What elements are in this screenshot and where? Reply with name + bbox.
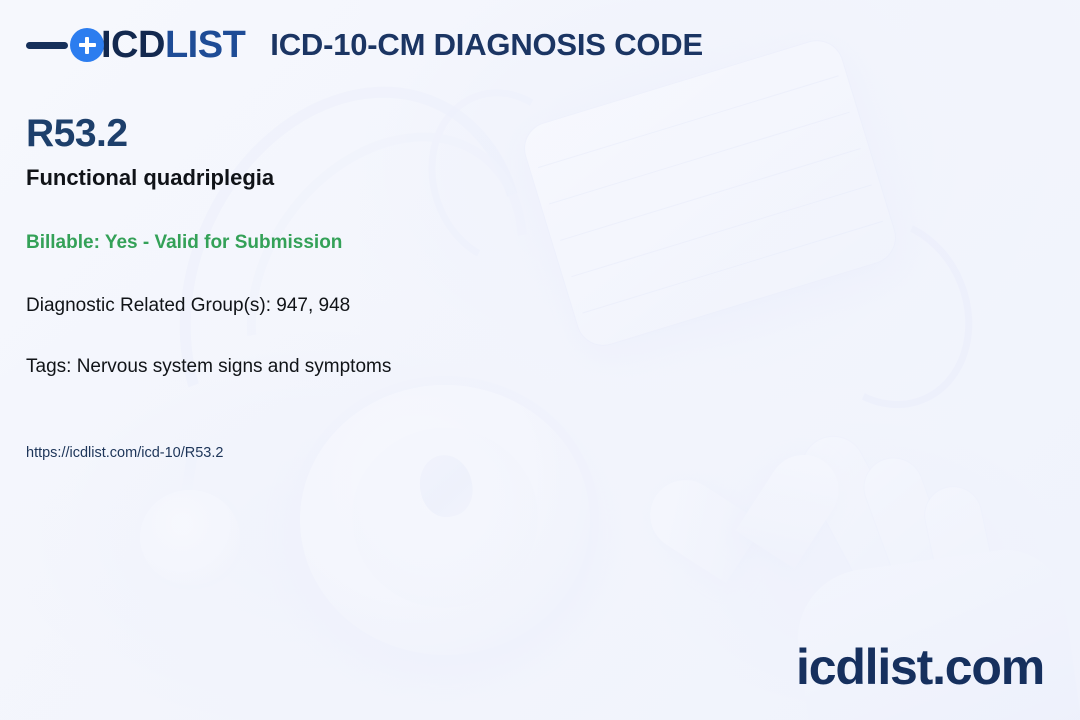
gloved-finger-icon [856,450,969,631]
gloved-finger-icon [791,426,930,614]
stethoscope-earpiece-icon [140,490,240,585]
surgical-mask-icon [519,35,902,351]
dash-icon [26,42,68,49]
diagnosis-details: R53.2 Functional quadriplegia Billable: … [26,112,391,462]
page-title: ICD-10-CM DIAGNOSIS CODE [270,27,703,63]
mask-ear-loop-right-icon [774,191,1000,434]
diagnosis-tags: Tags: Nervous system signs and symptoms [26,356,391,379]
footer-brand: icdlist.com [796,642,1044,692]
plus-circle-icon [70,28,104,62]
gloved-finger-icon [920,482,1008,650]
source-url[interactable]: https://icdlist.com/icd-10/R53.2 [26,445,391,462]
diagnosis-code: R53.2 [26,112,391,157]
diagnosis-description: Functional quadriplegia [26,165,391,191]
logo-text-icd: ICD [101,26,165,64]
stethoscope-nub-icon [414,450,478,521]
background-wash-top-right [360,0,1080,500]
paper-heart-icon [679,454,819,594]
icdlist-logo[interactable]: ICD LIST [26,26,245,64]
diagnostic-related-groups: Diagnostic Related Group(s): 947, 948 [26,295,391,318]
logo-text-list: LIST [165,26,245,64]
poster-canvas: ICD LIST ICD-10-CM DIAGNOSIS CODE R53.2 … [0,0,1080,720]
header: ICD LIST ICD-10-CM DIAGNOSIS CODE [26,26,703,64]
mask-ear-loop-left-icon [406,69,604,287]
billable-status: Billable: Yes - Valid for Submission [26,232,391,255]
